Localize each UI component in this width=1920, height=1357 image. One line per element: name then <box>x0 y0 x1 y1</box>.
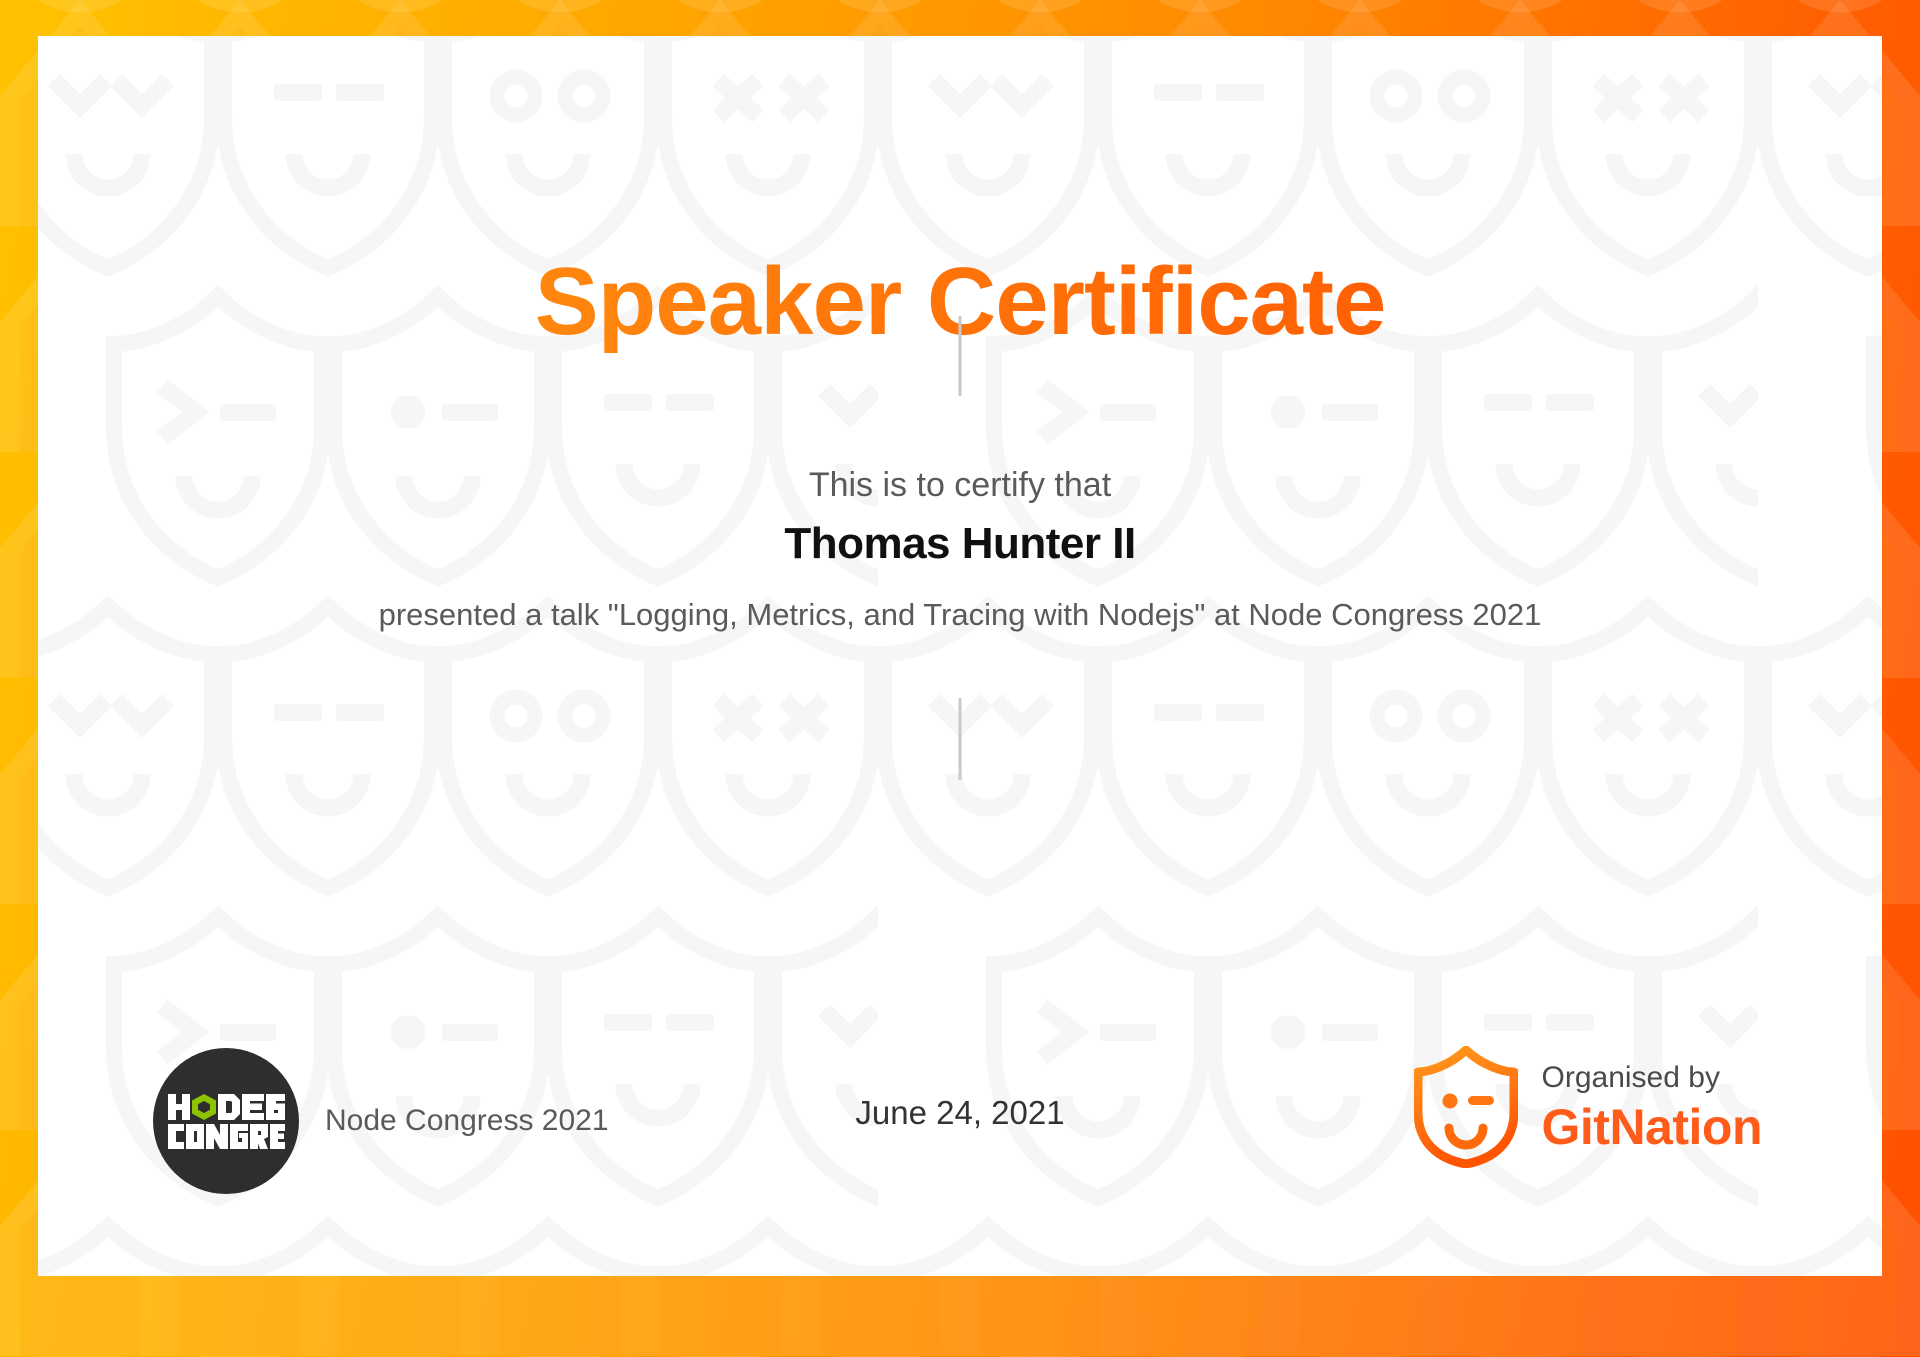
organiser-name: GitNation <box>1542 1100 1762 1155</box>
node-congress-logo <box>153 1048 299 1194</box>
organised-by-label: Organised by <box>1542 1060 1762 1096</box>
issue-date: June 24, 2021 <box>855 1094 1064 1132</box>
event-block: Node Congress 2021 <box>153 1048 609 1194</box>
event-name: Node Congress 2021 <box>325 1104 609 1138</box>
organiser-block: Organised by GitNation <box>1414 1046 1762 1168</box>
certificate-card: Speaker Certificate This is to certify t… <box>38 36 1882 1276</box>
divider-bottom <box>959 698 962 780</box>
talk-description: presented a talk "Logging, Metrics, and … <box>240 594 1680 636</box>
gitnation-shield-icon <box>1414 1046 1518 1168</box>
recipient-name: Thomas Hunter II <box>38 519 1882 569</box>
divider-top <box>959 316 962 396</box>
certificate-footer: Node Congress 2021 June 24, 2021 <box>38 986 1882 1276</box>
certify-line: This is to certify that <box>38 466 1882 505</box>
certificate: Speaker Certificate This is to certify t… <box>0 0 1920 1357</box>
